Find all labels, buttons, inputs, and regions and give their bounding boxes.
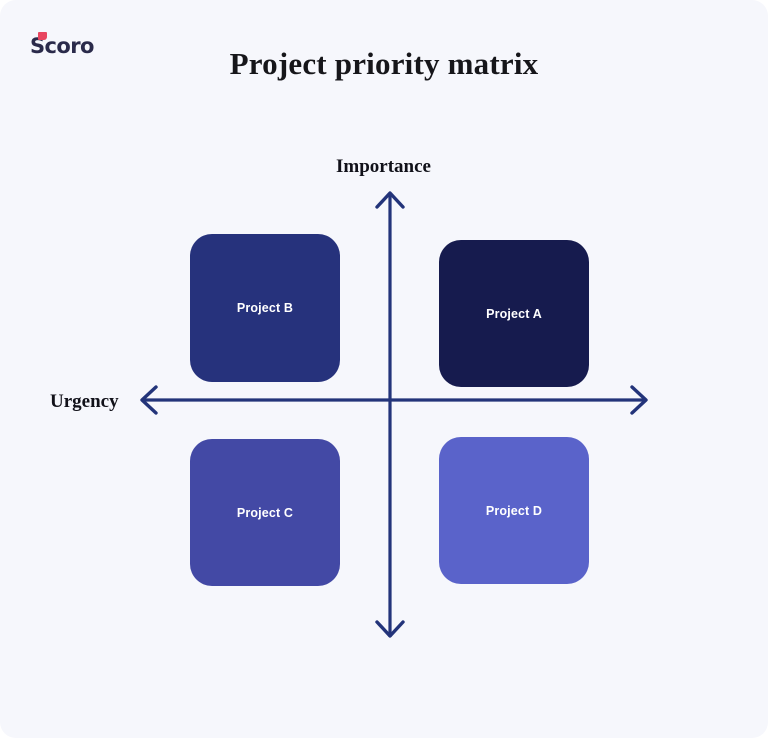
quadrant-label-project-c: Project C	[237, 506, 293, 520]
quadrant-label-project-d: Project D	[486, 504, 542, 518]
quadrant-box-project-b[interactable]: Project B	[190, 234, 340, 382]
quadrant-box-project-a[interactable]: Project A	[439, 240, 589, 387]
matrix-canvas: Scoro Project priority matrix Importance…	[0, 0, 768, 738]
axes-group	[0, 0, 768, 738]
quadrant-label-project-a: Project A	[486, 307, 542, 321]
quadrant-box-project-c[interactable]: Project C	[190, 439, 340, 586]
quadrant-label-project-b: Project B	[237, 301, 293, 315]
quadrant-box-project-d[interactable]: Project D	[439, 437, 589, 584]
